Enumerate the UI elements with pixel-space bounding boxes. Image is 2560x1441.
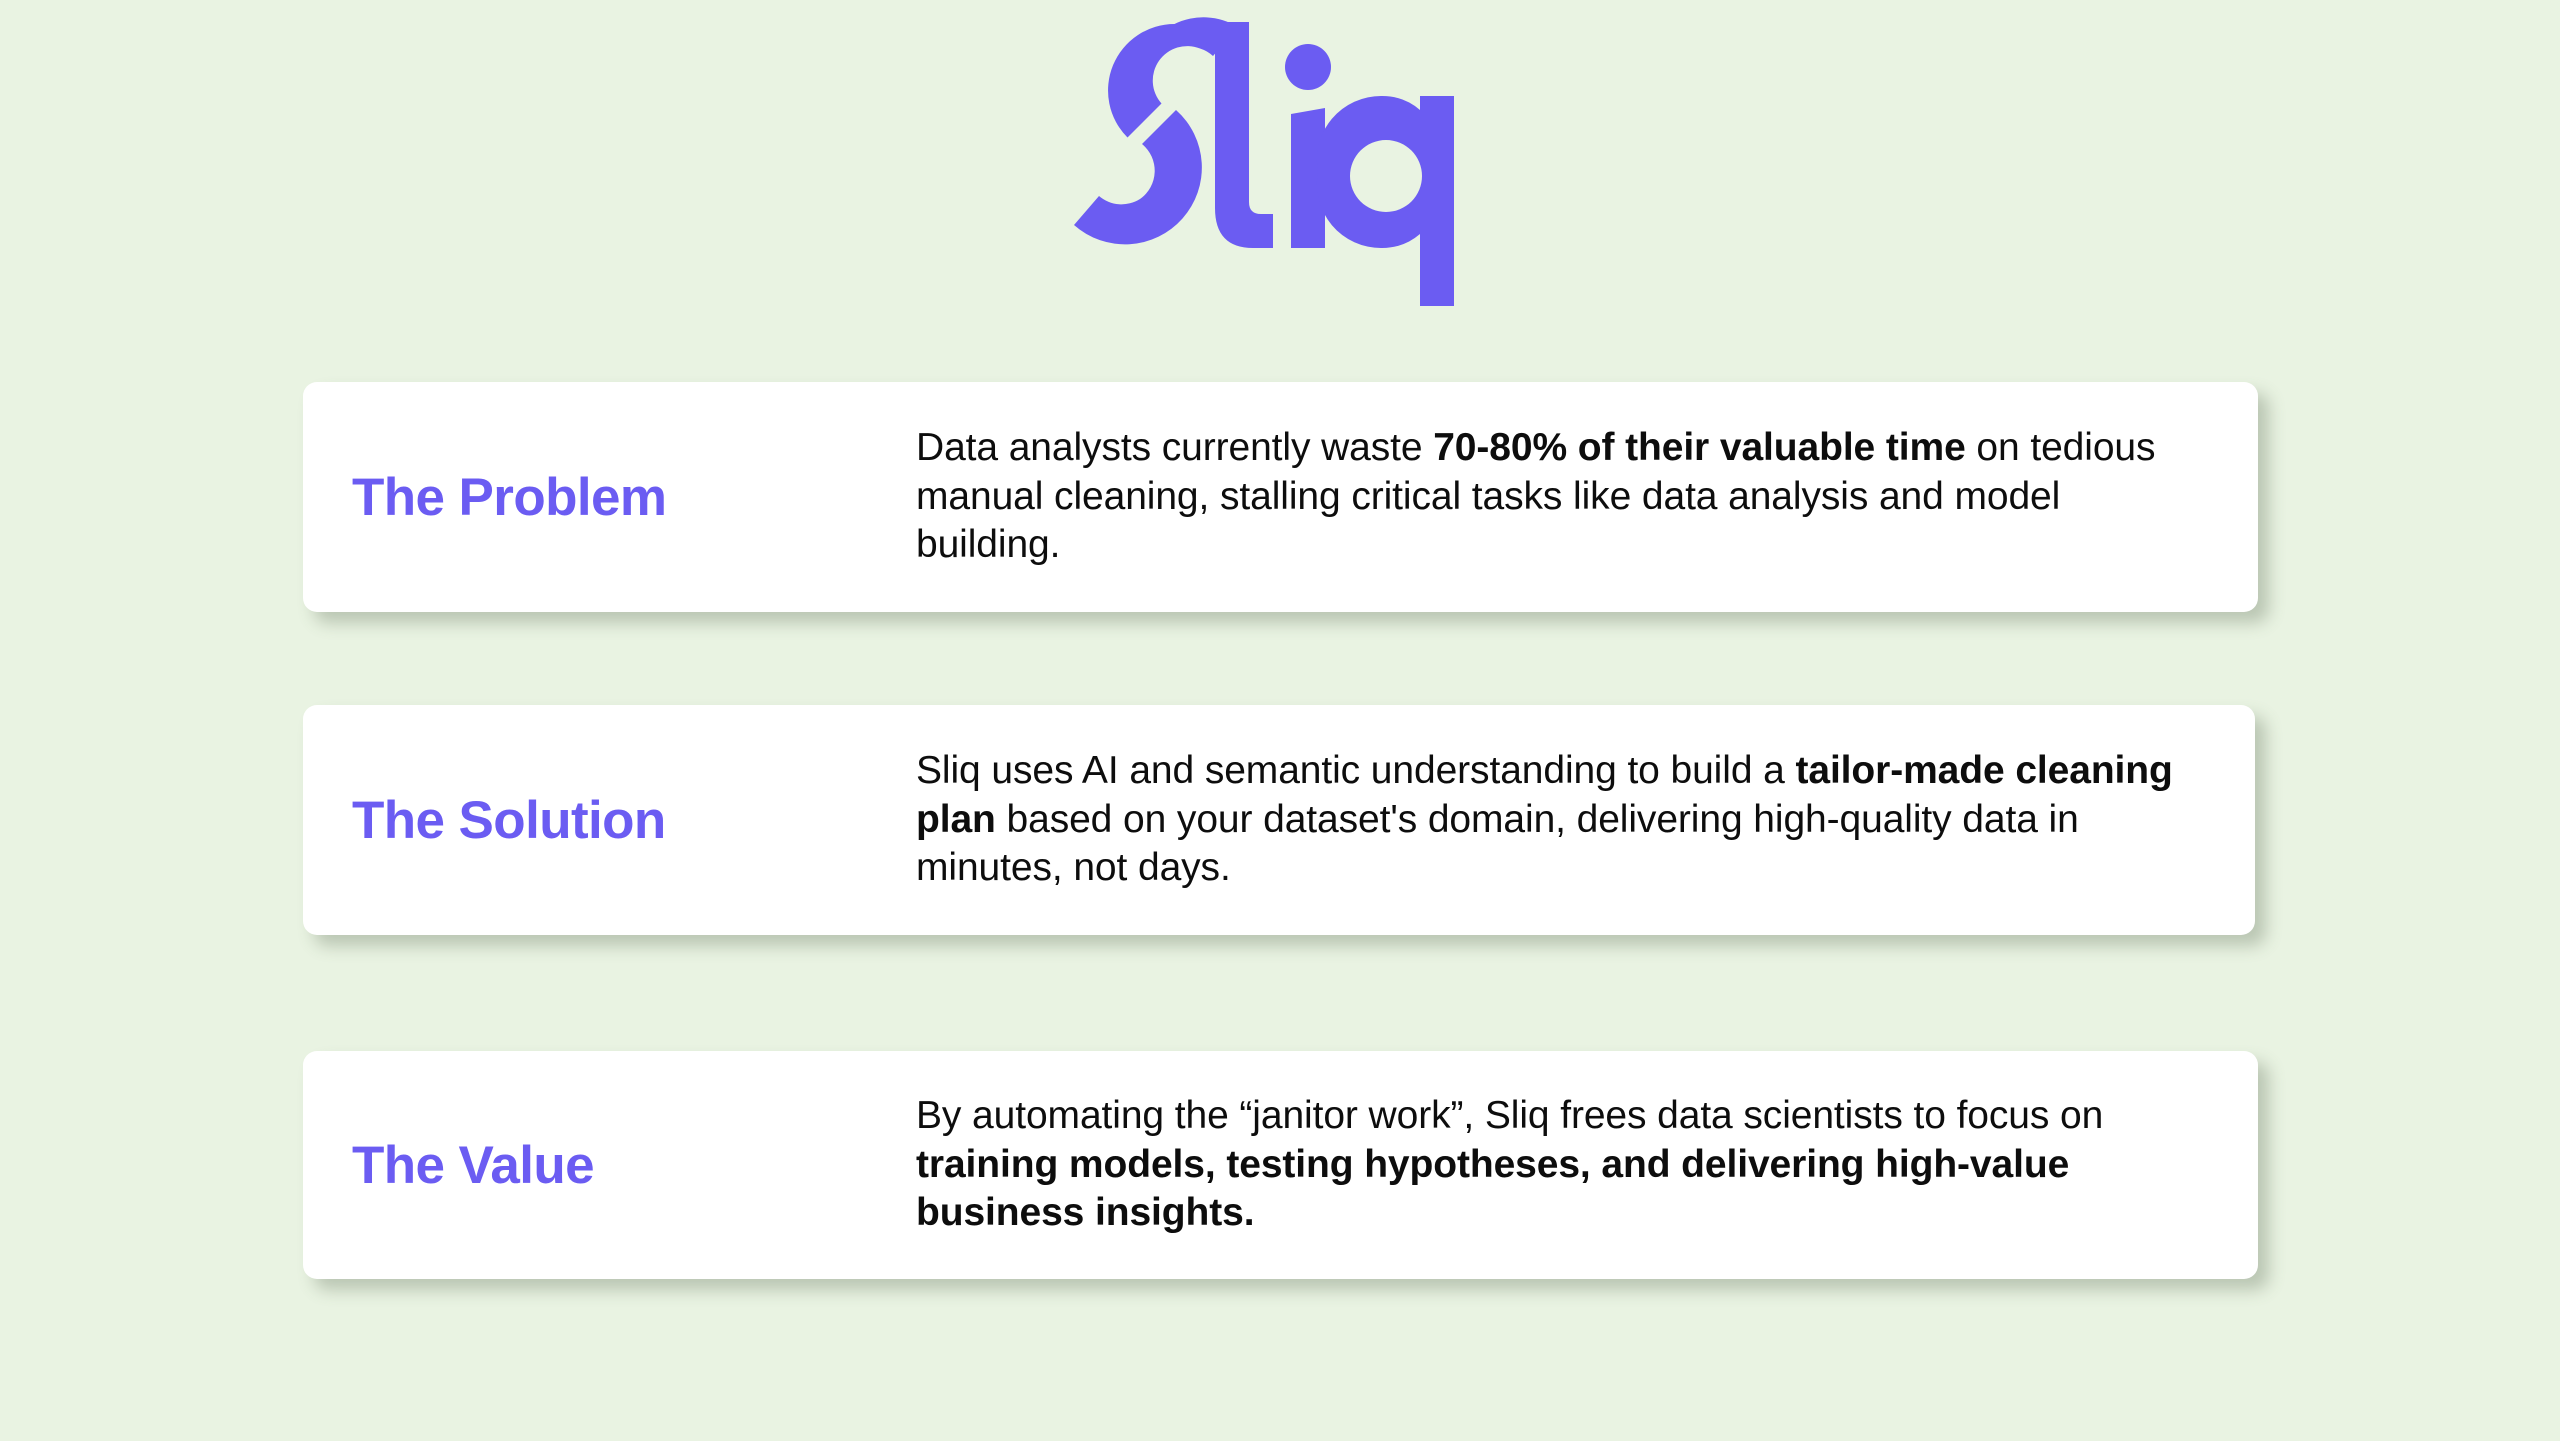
- card-list: The Problem Data analysts currently wast…: [303, 382, 2258, 1279]
- sliq-logo: [1070, 14, 1490, 314]
- logo-header: [0, 0, 2560, 345]
- card-heading: The Problem: [303, 471, 916, 524]
- card-body: Data analysts currently waste 70-80% of …: [916, 424, 2258, 569]
- card-heading: The Value: [303, 1139, 916, 1192]
- card-the-value[interactable]: The Value By automating the “janitor wor…: [303, 1051, 2258, 1279]
- card-the-problem[interactable]: The Problem Data analysts currently wast…: [303, 382, 2258, 612]
- card-body: Sliq uses AI and semantic understanding …: [916, 747, 2255, 892]
- card-body: By automating the “janitor work”, Sliq f…: [916, 1092, 2258, 1237]
- card-heading: The Solution: [303, 794, 916, 847]
- card-the-solution[interactable]: The Solution Sliq uses AI and semantic u…: [303, 705, 2255, 935]
